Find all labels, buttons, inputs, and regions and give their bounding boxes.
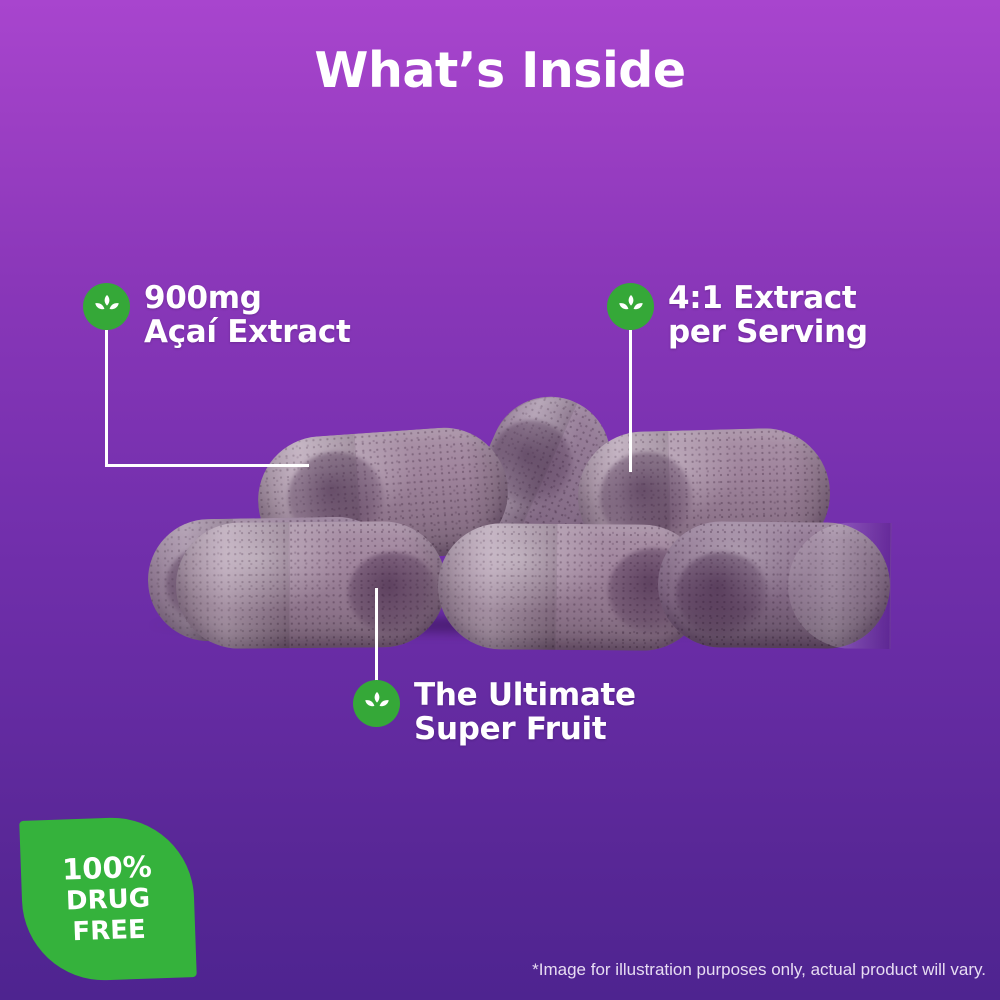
callout-label: The Ultimate Super Fruit [414,678,636,746]
callout-extract-ratio[interactable]: 4:1 Extract per Serving [607,281,868,349]
infographic-canvas: What’s Inside [0,0,1000,1000]
callout-label: 900mg Açaí Extract [144,281,351,349]
leader-line-acai-vertical [105,330,108,467]
capsule [175,521,446,649]
drug-free-line-1: 100% [62,852,153,885]
callout-acai-extract[interactable]: 900mg Açaí Extract [83,281,351,349]
leaf-sprout-icon [83,283,130,330]
disclaimer-text: *Image for illustration purposes only, a… [532,960,986,980]
leaf-sprout-icon [607,283,654,330]
leader-line-superfruit-vertical [375,588,378,682]
capsule [657,521,890,649]
callout-super-fruit[interactable]: The Ultimate Super Fruit [353,678,636,746]
leaf-sprout-icon [353,680,400,727]
callout-label: 4:1 Extract per Serving [668,281,868,349]
drug-free-line-2: DRUG [66,886,151,915]
drug-free-line-3: FREE [72,916,146,945]
leader-line-acai-horizontal [105,464,309,467]
leader-line-extract-vertical [629,330,632,472]
